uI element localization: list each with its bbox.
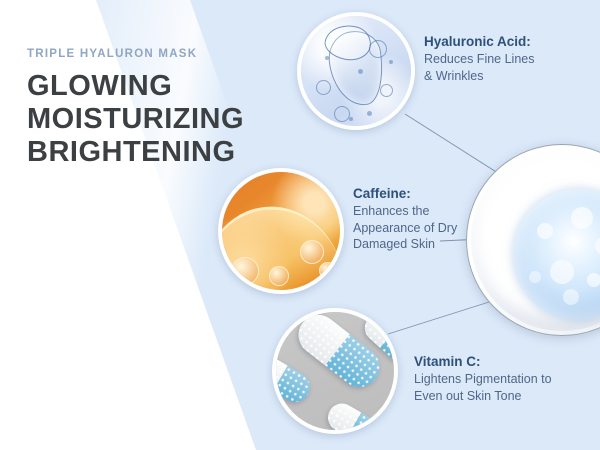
desc-line: Damaged Skin <box>353 236 457 253</box>
headline-block: TRIPLE HYALURON MASK GLOWING MOISTURIZIN… <box>27 48 267 169</box>
desc-line: Reduces Fine Lines <box>424 51 534 68</box>
ingredient-name-hyaluronic-acid: Hyaluronic Acid: <box>424 33 534 50</box>
headline-line-2: MOISTURIZING <box>27 103 267 136</box>
headline-line-1: GLOWING <box>27 70 267 103</box>
headline-line-3: BRIGHTENING <box>27 136 267 169</box>
ingredient-swatch-caffeine <box>218 168 344 294</box>
ingredient-swatch-hyaluronic-acid <box>297 12 415 130</box>
page-title: GLOWING MOISTURIZING BRIGHTENING <box>27 70 267 169</box>
brand-eyebrow: TRIPLE HYALURON MASK <box>27 48 267 60</box>
ingredient-name-vitamin-c: Vitamin C: <box>414 353 552 370</box>
desc-line: & Wrinkles <box>424 68 534 85</box>
desc-line: Appearance of Dry <box>353 220 457 237</box>
ingredient-swatch-vitamin-c <box>272 308 398 434</box>
desc-line: Lightens Pigmentation to <box>414 371 552 388</box>
infographic-canvas: TRIPLE HYALURON MASK GLOWING MOISTURIZIN… <box>0 0 600 450</box>
ingredient-desc-hyaluronic-acid: Reduces Fine Lines & Wrinkles <box>424 51 534 84</box>
product-jar <box>466 144 600 336</box>
callout-caffeine: Caffeine: Enhances the Appearance of Dry… <box>353 185 457 253</box>
ingredient-desc-vitamin-c: Lightens Pigmentation to Even out Skin T… <box>414 371 552 404</box>
ingredient-desc-caffeine: Enhances the Appearance of Dry Damaged S… <box>353 203 457 253</box>
callout-vitamin-c: Vitamin C: Lightens Pigmentation to Even… <box>414 353 552 404</box>
callout-hyaluronic-acid: Hyaluronic Acid: Reduces Fine Lines & Wr… <box>424 33 534 84</box>
desc-line: Even out Skin Tone <box>414 388 552 405</box>
ingredient-name-caffeine: Caffeine: <box>353 185 457 202</box>
jar-gel-content <box>513 189 600 321</box>
desc-line: Enhances the <box>353 203 457 220</box>
